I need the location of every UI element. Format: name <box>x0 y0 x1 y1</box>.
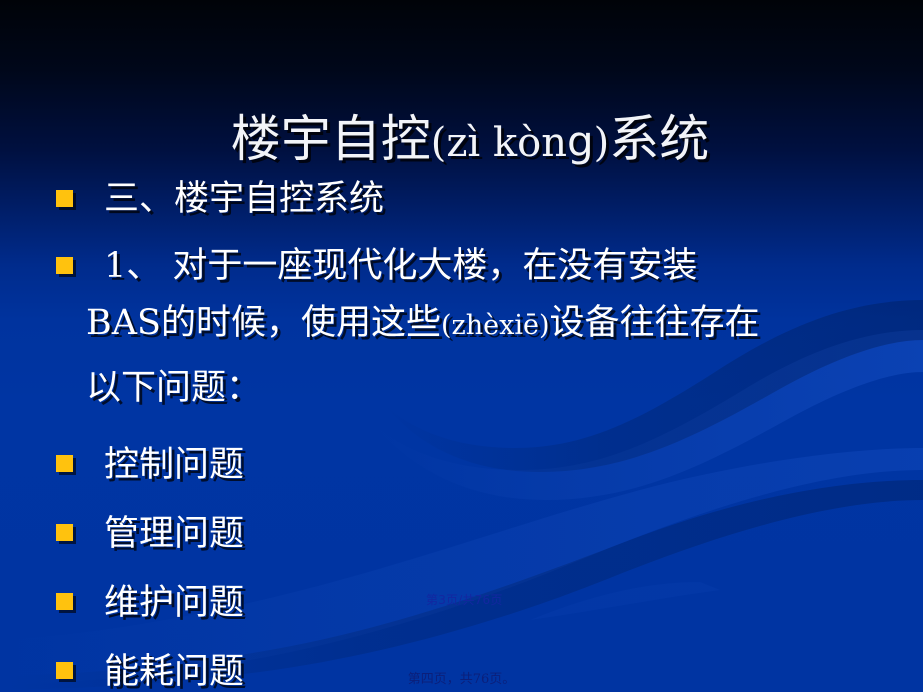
list-item: 维护问题 <box>44 580 904 627</box>
list-item-label: 维护问题 <box>104 583 244 623</box>
list-item-label: 三、楼宇自控系统 <box>104 179 384 219</box>
bullet-square-icon <box>56 257 73 274</box>
list-item: 1、 对于一座现代化大楼，在没有安装 <box>44 243 904 290</box>
slide-canvas: 楼宇自控(zì kòng)系统 三、楼宇自控系统 1、 对于一座现代化大楼，在没… <box>0 0 923 692</box>
list-item: 三、楼宇自控系统 <box>44 176 904 223</box>
bullet-square-icon <box>56 190 73 207</box>
list-item-label: 1、 对于一座现代化大楼，在没有安装 <box>104 246 697 286</box>
bullet-square-icon <box>56 662 73 679</box>
title-hanzi-tail: 系 <box>609 110 659 168</box>
list-item: 管理问题 <box>44 511 904 558</box>
bullet-square-icon <box>56 455 73 472</box>
list-item-continuation: 以下问题： <box>44 357 904 420</box>
bullet-list: 三、楼宇自控系统 1、 对于一座现代化大楼，在没有安装 BAS的时候，使用这些(… <box>44 176 904 692</box>
title-hanzi-part: 楼宇自控 <box>231 110 431 168</box>
bullet-square-icon <box>56 593 73 610</box>
spacer <box>44 231 904 243</box>
title-pinyin-open: (zì kòn <box>431 120 567 166</box>
title-pinyin-g: g <box>567 117 594 166</box>
acronym-bas: BAS <box>86 303 161 343</box>
list-item-label: 管理问题 <box>104 514 244 554</box>
title-pinyin: (zì kòng) <box>431 120 610 166</box>
continuation-text-b: 设备往往存在 <box>550 303 760 343</box>
title-hanzi-line2: 统 <box>659 110 709 168</box>
title-pinyin-close: ) <box>594 120 610 166</box>
list-item-continuation: BAS的时候，使用这些(zhèxiē)设备往往存在 <box>44 292 904 357</box>
list-item: 能耗问题 <box>44 649 904 692</box>
bullet-square-icon <box>56 524 73 541</box>
list-item: 控制问题 <box>44 442 904 489</box>
list-item-label: 能耗问题 <box>104 652 244 692</box>
continuation-text-a: 的时候，使用这些 <box>161 303 441 343</box>
list-item-label: 控制问题 <box>104 445 244 485</box>
slide-title: 楼宇自控(zì kòng)系统 <box>120 112 820 170</box>
inline-pinyin: (zhèxiē) <box>441 310 550 341</box>
